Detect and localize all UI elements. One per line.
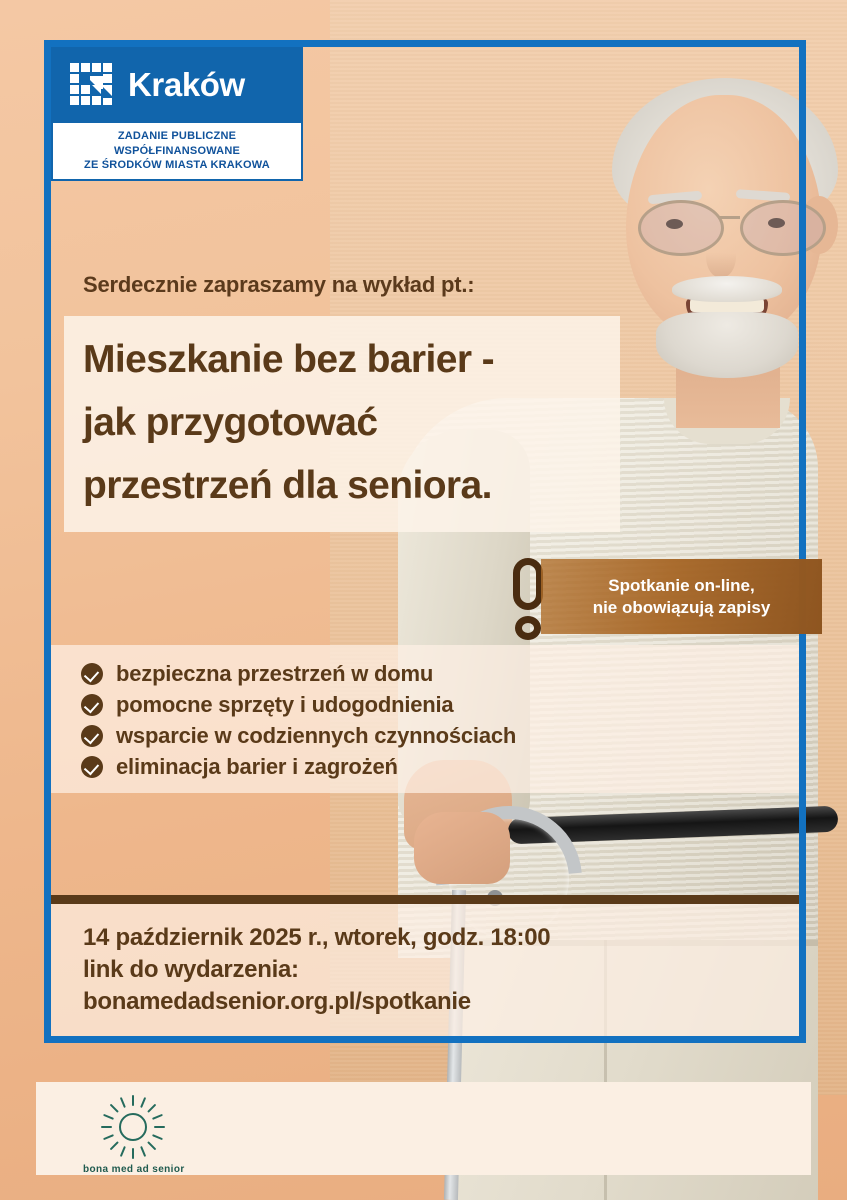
check-circle-icon bbox=[81, 663, 103, 685]
title-line-2: jak przygotować bbox=[83, 403, 377, 442]
krakow-grid-logo-icon bbox=[70, 63, 112, 105]
check-circle-icon bbox=[81, 756, 103, 778]
mustache bbox=[672, 276, 782, 302]
event-datetime: 14 październik 2025 r., wtorek, godz. 18… bbox=[83, 922, 799, 954]
organizer-footer: bona med ad senior bbox=[36, 1082, 811, 1175]
beard bbox=[656, 312, 798, 378]
invitation-text: Serdecznie zapraszamy na wykład pt.: bbox=[83, 272, 474, 298]
list-item: bezpieczna przestrzeń w domu bbox=[81, 658, 799, 689]
list-item: wsparcie w codziennych czynnościach bbox=[81, 720, 799, 751]
krakow-logo-text: Kraków bbox=[128, 68, 245, 101]
event-link-label: link do wydarzenia: bbox=[83, 954, 799, 986]
badge-line-2: nie obowiązują zapisy bbox=[593, 597, 771, 619]
check-circle-icon bbox=[81, 725, 103, 747]
list-item: eliminacja barier i zagrożeń bbox=[81, 751, 799, 782]
event-details: 14 październik 2025 r., wtorek, godz. 18… bbox=[51, 904, 799, 1036]
check-circle-icon bbox=[81, 694, 103, 716]
list-item-label: wsparcie w codziennych czynnościach bbox=[116, 723, 516, 749]
sun-icon bbox=[100, 1094, 166, 1160]
list-item-label: bezpieczna przestrzeń w domu bbox=[116, 661, 433, 687]
funding-notice-box: ZADANIE PUBLICZNE WSPÓŁFINANSOWANE ZE ŚR… bbox=[51, 121, 303, 181]
section-divider bbox=[51, 895, 799, 904]
sun-core bbox=[119, 1113, 147, 1141]
title-line-1: Mieszkanie bez barier - bbox=[83, 340, 494, 379]
list-item-label: pomocne sprzęty i udogodnienia bbox=[116, 692, 453, 718]
funding-line-2: WSPÓŁFINANSOWANE bbox=[114, 144, 240, 159]
topic-list: bezpieczna przestrzeń w domu pomocne spr… bbox=[51, 645, 799, 793]
nose bbox=[706, 236, 736, 278]
funding-line-1: ZADANIE PUBLICZNE bbox=[118, 129, 236, 144]
list-item: pomocne sprzęty i udogodnienia bbox=[81, 689, 799, 720]
hand bbox=[414, 812, 510, 884]
krakow-logo-block: Kraków bbox=[51, 47, 303, 121]
title-line-3: przestrzeń dla seniora. bbox=[83, 466, 492, 505]
badge-line-1: Spotkanie on-line, bbox=[608, 575, 754, 597]
exclamation-bar bbox=[513, 558, 543, 610]
exclamation-dot bbox=[515, 616, 541, 640]
glasses-bridge bbox=[718, 216, 740, 219]
poster-canvas: Kraków ZADANIE PUBLICZNE WSPÓŁFINANSOWAN… bbox=[0, 0, 847, 1200]
lecture-title-box: Mieszkanie bez barier - jak przygotować … bbox=[64, 316, 620, 532]
online-meeting-badge: Spotkanie on-line, nie obowiązują zapisy bbox=[541, 559, 822, 634]
lens-right bbox=[740, 200, 826, 256]
list-item-label: eliminacja barier i zagrożeń bbox=[116, 754, 398, 780]
funding-line-3: ZE ŚRODKÓW MIASTA KRAKOWA bbox=[84, 158, 270, 173]
event-link-url[interactable]: bonamedadsenior.org.pl/spotkanie bbox=[83, 986, 799, 1018]
organizer-name: bona med ad senior bbox=[83, 1164, 185, 1175]
